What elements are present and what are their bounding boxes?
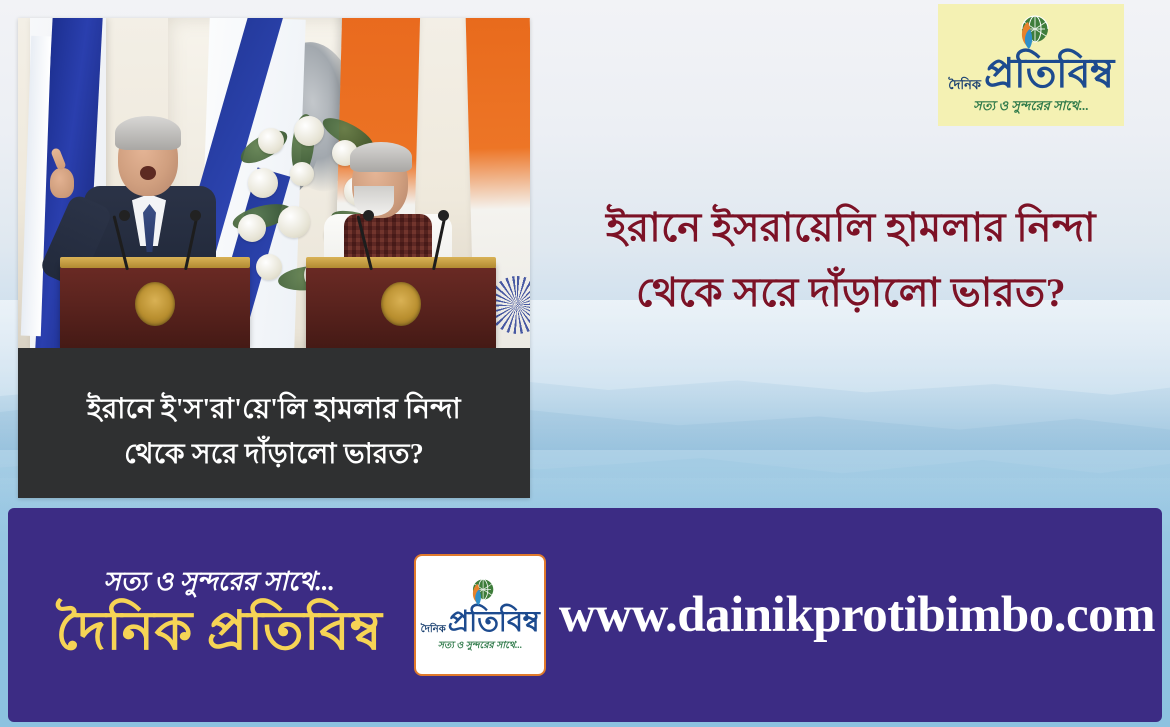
headline-line-2: থেকে সরে দাঁড়ালো ভারত? (545, 261, 1157, 326)
news-photo-card: ইরানে ই'স'রা'য়ে'লি হামলার নিন্দা থেকে স… (18, 18, 530, 498)
logo-dainik-text: দৈনিক (948, 78, 981, 91)
news-poster: ইরানে ই'স'রা'য়ে'লি হামলার নিন্দা থেকে স… (0, 0, 1170, 727)
podium-right (306, 266, 496, 348)
website-url[interactable]: www.dainikprotibimbo.com (546, 586, 1162, 644)
photo-caption-line-1: ইরানে ই'স'রা'য়ে'লি হামলার নিন্দা (87, 387, 461, 432)
microphone-head-left-2 (190, 210, 201, 221)
photo-caption-text: ইরানে ই'স'রা'য়ে'লি হামলার নিন্দা থেকে স… (87, 387, 461, 478)
open-mouth (140, 166, 156, 180)
logo-tagline-text: সত্য ও সুন্দরের সাথে... (973, 97, 1089, 118)
podium-left (60, 266, 250, 348)
photo-caption-line-2: থেকে সরে দাঁড়ালো ভারত? (87, 432, 461, 477)
globe-leaf-icon-footer (462, 577, 498, 613)
footer-logo-dainik-text: দৈনিক (421, 625, 446, 635)
footer-brand-block: সত্য ও সুন্দরের সাথে... দৈনিক প্রতিবিম্ব (8, 568, 408, 663)
footer-banner: সত্য ও সুন্দরের সাথে... দৈনিক প্রতিবিম্ব… (8, 508, 1162, 722)
brand-logo-top-right[interactable]: দৈনিক প্রতিবিম্ব সত্য ও সুন্দরের সাথে... (938, 4, 1124, 126)
press-conference-photo (18, 18, 530, 348)
india-emblem-icon-right (381, 282, 421, 326)
microphone-head-left-1 (119, 210, 130, 221)
headline: ইরানে ইসরায়েলি হামলার নিন্দা থেকে সরে দ… (545, 196, 1157, 326)
globe-leaf-icon (1008, 13, 1054, 59)
brand-logo-card-footer[interactable]: দৈনিক প্রতিবিম্ব সত্য ও সুন্দরের সাথে... (414, 554, 546, 676)
headline-line-1: ইরানে ইসরায়েলি হামলার নিন্দা (545, 196, 1157, 261)
microphone-head-right-1 (363, 210, 374, 221)
photo-caption-bar: ইরানে ই'স'রা'য়ে'লি হামলার নিন্দা থেকে স… (18, 348, 530, 498)
footer-tagline: সত্য ও সুন্দরের সাথে... (30, 568, 408, 597)
microphone-head-right-2 (438, 210, 449, 221)
footer-brand-name: দৈনিক প্রতিবিম্ব (30, 600, 408, 662)
footer-logo-tagline-text: সত্য ও সুন্দরের সাথে... (438, 639, 523, 654)
india-emblem-icon (135, 282, 175, 326)
